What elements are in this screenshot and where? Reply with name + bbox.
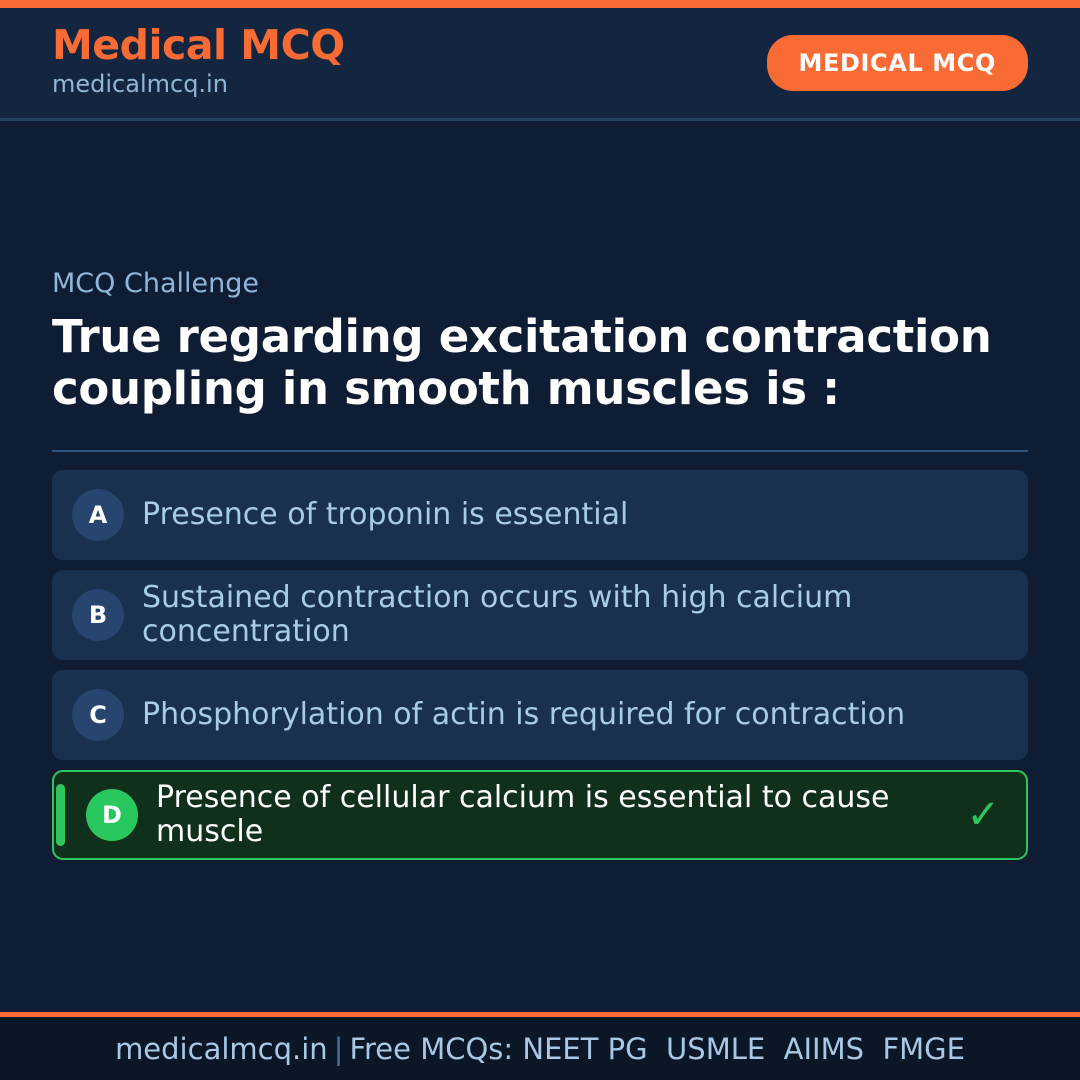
option-letter-badge: B xyxy=(72,589,124,641)
footer-separator: | xyxy=(328,1032,350,1066)
brand: Medical MCQ medicalmcq.in xyxy=(52,25,345,102)
options-list: A Presence of troponin is essential B Su… xyxy=(52,470,1028,860)
option-d-correct[interactable]: D Presence of cellular calcium is essent… xyxy=(52,770,1028,860)
correct-accent-bar xyxy=(56,784,65,846)
question-text: True regarding excitation contraction co… xyxy=(52,311,992,415)
option-letter-badge: A xyxy=(72,489,124,541)
brand-subtitle: medicalmcq.in xyxy=(52,67,345,102)
mcq-card: Medical MCQ medicalmcq.in MEDICAL MCQ MC… xyxy=(0,0,1080,1080)
check-mark-icon: ✓ xyxy=(966,795,1000,835)
option-text: Presence of cellular calcium is essentia… xyxy=(156,781,942,848)
brand-title: Medical MCQ xyxy=(52,25,345,67)
header-bar: Medical MCQ medicalmcq.in MEDICAL MCQ xyxy=(0,8,1080,121)
question-eyebrow: MCQ Challenge xyxy=(52,269,1028,299)
option-c[interactable]: C Phosphorylation of actin is required f… xyxy=(52,670,1028,760)
content-area: MCQ Challenge True regarding excitation … xyxy=(0,121,1080,1012)
option-letter-badge: D xyxy=(86,789,138,841)
footer-bar: medicalmcq.in | Free MCQs: NEET PG USMLE… xyxy=(0,1017,1080,1080)
option-text: Phosphorylation of actin is required for… xyxy=(142,698,1002,732)
option-a[interactable]: A Presence of troponin is essential xyxy=(52,470,1028,560)
question-divider xyxy=(52,450,1028,452)
header-badge[interactable]: MEDICAL MCQ xyxy=(767,35,1028,91)
question-block: MCQ Challenge True regarding excitation … xyxy=(52,269,1028,470)
option-b[interactable]: B Sustained contraction occurs with high… xyxy=(52,570,1028,660)
top-accent-rule xyxy=(0,0,1080,8)
option-text: Sustained contraction occurs with high c… xyxy=(142,581,1002,648)
option-text: Presence of troponin is essential xyxy=(142,498,1002,532)
footer-tagline: Free MCQs: NEET PG USMLE AIIMS FMGE xyxy=(349,1032,965,1066)
option-letter-badge: C xyxy=(72,689,124,741)
footer-site: medicalmcq.in xyxy=(115,1032,328,1066)
